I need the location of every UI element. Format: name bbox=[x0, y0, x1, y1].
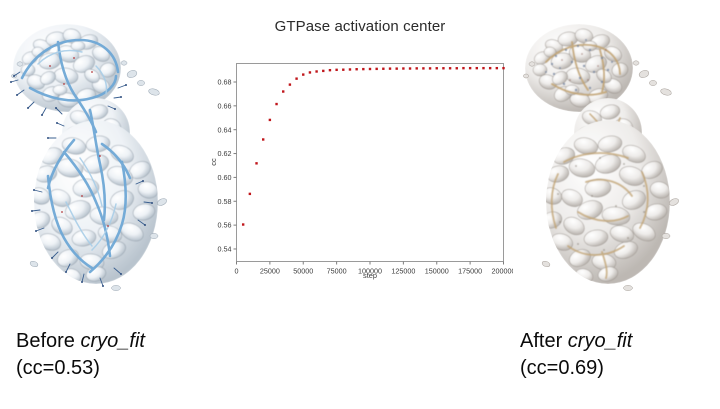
data-point bbox=[422, 67, 424, 69]
caption-before-emphasis: cryo_fit bbox=[80, 330, 144, 352]
data-point bbox=[362, 68, 364, 70]
data-point bbox=[476, 67, 478, 69]
data-point bbox=[315, 70, 317, 72]
caption-after: After cryo_fit (cc=0.69) bbox=[520, 328, 632, 382]
data-point bbox=[355, 68, 357, 70]
data-point bbox=[295, 77, 297, 79]
x-tick-label: 25000 bbox=[260, 267, 280, 276]
data-point bbox=[269, 119, 271, 121]
data-point bbox=[442, 67, 444, 69]
data-point bbox=[342, 69, 344, 71]
plot-svg: 0.540.560.580.600.620.640.660.68 0250005… bbox=[207, 50, 513, 280]
data-point bbox=[309, 71, 311, 73]
axes-frame bbox=[237, 64, 504, 262]
caption-before-prefix: Before bbox=[16, 330, 80, 352]
data-point bbox=[456, 67, 458, 69]
data-point bbox=[382, 68, 384, 70]
data-point bbox=[369, 68, 371, 70]
chart-title: GTPase activation center bbox=[207, 18, 513, 35]
data-point bbox=[389, 67, 391, 69]
data-point bbox=[449, 67, 451, 69]
data-point bbox=[349, 68, 351, 70]
data-point bbox=[409, 67, 411, 69]
data-point bbox=[275, 103, 277, 105]
y-tick-label: 0.60 bbox=[218, 173, 232, 182]
y-tick-label: 0.62 bbox=[218, 149, 232, 158]
data-point bbox=[375, 68, 377, 70]
data-point bbox=[462, 67, 464, 69]
x-tick-label: 150000 bbox=[425, 267, 449, 276]
data-point bbox=[489, 67, 491, 69]
x-tick-label: 0 bbox=[235, 267, 239, 276]
caption-before: Before cryo_fit (cc=0.53) bbox=[16, 328, 145, 382]
y-tick-label: 0.54 bbox=[218, 245, 232, 254]
data-point bbox=[329, 69, 331, 71]
caption-after-emphasis: cryo_fit bbox=[568, 330, 632, 352]
data-point bbox=[262, 138, 264, 140]
x-tick-label: 200000 bbox=[492, 267, 513, 276]
after-structure-render bbox=[516, 6, 716, 316]
data-point bbox=[469, 67, 471, 69]
data-point bbox=[335, 69, 337, 71]
data-point bbox=[302, 73, 304, 75]
data-point bbox=[416, 67, 418, 69]
data-point bbox=[255, 162, 257, 164]
y-tick-label: 0.66 bbox=[218, 101, 232, 110]
caption-after-cc: (cc=0.69) bbox=[520, 355, 632, 382]
data-point bbox=[402, 67, 404, 69]
data-point bbox=[396, 67, 398, 69]
before-cryo-fit-structure bbox=[4, 6, 204, 316]
caption-after-prefix: After bbox=[520, 330, 568, 352]
x-tick-label: 50000 bbox=[293, 267, 313, 276]
before-structure-render bbox=[4, 6, 204, 316]
x-tick-label: 75000 bbox=[327, 267, 347, 276]
data-point bbox=[429, 67, 431, 69]
data-point bbox=[502, 67, 504, 69]
y-axis-label: cc bbox=[209, 158, 218, 166]
data-point bbox=[249, 193, 251, 195]
data-point bbox=[282, 90, 284, 92]
x-axis-label: step bbox=[363, 271, 377, 280]
data-point bbox=[482, 67, 484, 69]
data-point bbox=[289, 83, 291, 85]
data-point bbox=[242, 223, 244, 225]
y-tick-label: 0.64 bbox=[218, 125, 232, 134]
y-axis-ticks: 0.540.560.580.600.620.640.660.68 bbox=[218, 78, 237, 254]
cc-vs-step-chart: GTPase activation center 0.540.560.580.6… bbox=[207, 4, 513, 294]
y-tick-label: 0.58 bbox=[218, 197, 232, 206]
data-point bbox=[496, 67, 498, 69]
y-tick-label: 0.56 bbox=[218, 221, 232, 230]
data-point bbox=[322, 70, 324, 72]
caption-before-cc: (cc=0.53) bbox=[16, 355, 145, 382]
plot-area: 0.540.560.580.600.620.640.660.68 0250005… bbox=[207, 50, 513, 280]
y-tick-label: 0.68 bbox=[218, 78, 232, 87]
data-point bbox=[436, 67, 438, 69]
x-tick-label: 125000 bbox=[391, 267, 415, 276]
x-tick-label: 175000 bbox=[458, 267, 482, 276]
after-cryo-fit-structure bbox=[516, 6, 716, 316]
